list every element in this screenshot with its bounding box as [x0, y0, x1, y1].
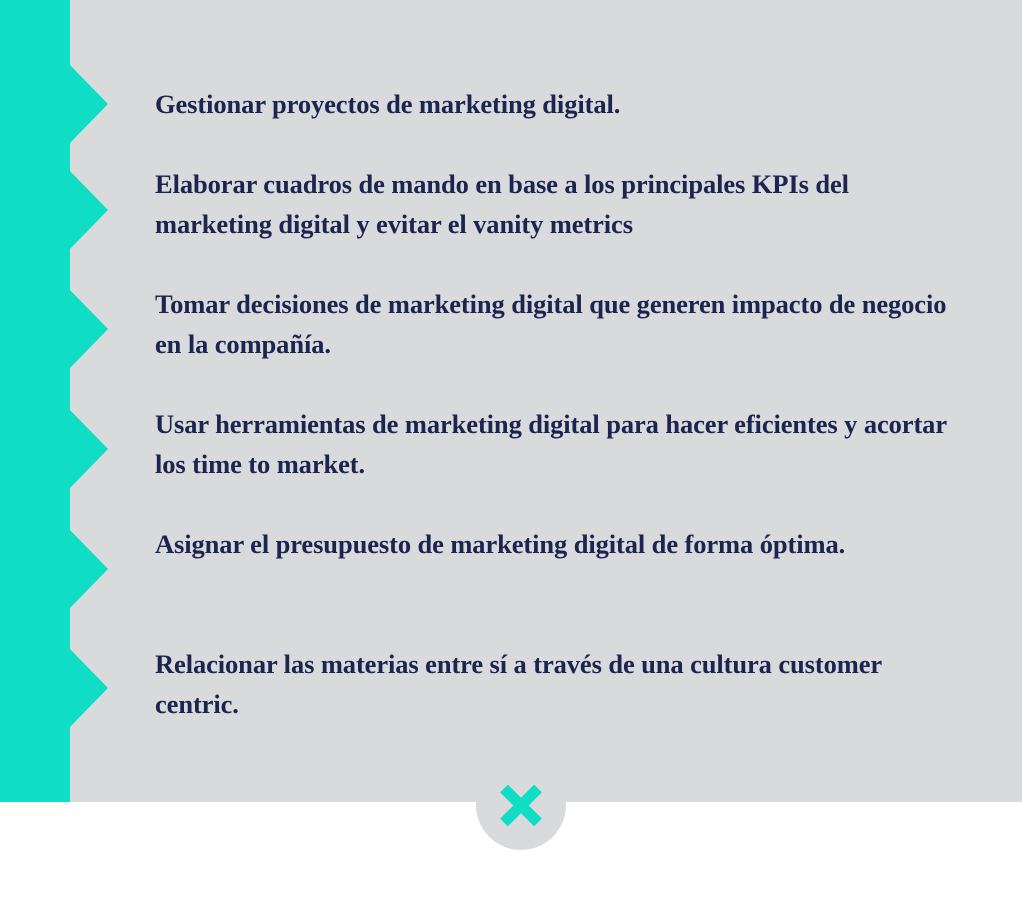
list-item: Usar herramientas de marketing digital p… [155, 404, 965, 484]
list-item: Elaborar cuadros de mando en base a los … [155, 164, 965, 244]
accent-bar-left [0, 0, 70, 802]
close-badge[interactable] [476, 760, 566, 850]
list-item: Gestionar proyectos de marketing digital… [155, 84, 965, 124]
list-item: Relacionar las materias entre sí a travé… [155, 644, 965, 724]
bullet-list: Gestionar proyectos de marketing digital… [155, 0, 975, 802]
list-item: Tomar decisiones de marketing digital qu… [155, 284, 965, 364]
list-item: Asignar el presupuesto de marketing digi… [155, 524, 965, 564]
slide-canvas: Gestionar proyectos de marketing digital… [0, 0, 1022, 897]
close-x-icon[interactable] [476, 760, 566, 850]
